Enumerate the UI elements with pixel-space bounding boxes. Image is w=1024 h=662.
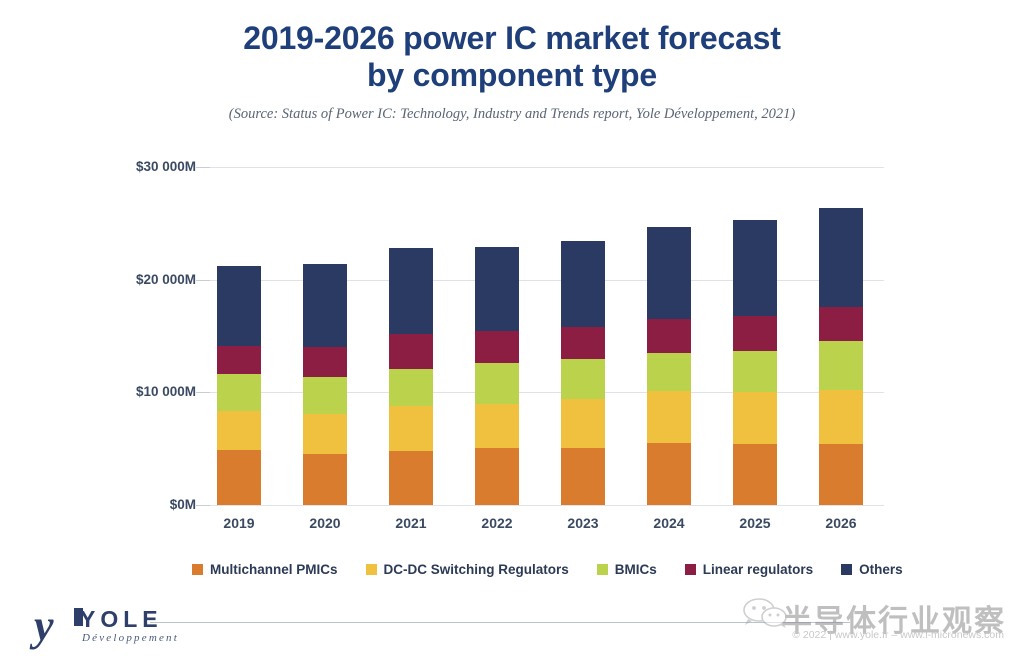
bar-segment[interactable] [475, 448, 519, 505]
watermark-credit: © 2022 | www.yole.fr – www.i-micronews.c… [792, 629, 1004, 641]
watermark: 半导体行业观察 © 2022 | www.yole.fr – www.i-mic… [738, 596, 1006, 652]
bar-segment[interactable] [561, 448, 605, 505]
yole-logo-subtitle: Développement [82, 632, 179, 644]
yole-logo-letter: y [34, 604, 54, 648]
bar-segment[interactable] [733, 444, 777, 505]
bar-segment[interactable] [819, 307, 863, 341]
bar-segment[interactable] [303, 414, 347, 455]
y-axis-tick-label: $10 000M [100, 384, 196, 399]
yole-logo: y YOLE Développement [34, 598, 204, 650]
bar-segment[interactable] [475, 404, 519, 448]
legend-swatch [841, 564, 852, 575]
x-axis-label: 2023 [548, 515, 618, 531]
bar-segment[interactable] [561, 359, 605, 400]
y-axis-tick: $0M [88, 497, 196, 511]
bar-segment[interactable] [389, 248, 433, 334]
legend-item[interactable]: Linear regulators [685, 562, 813, 577]
chart-page: 2019-2026 power IC market forecast by co… [0, 0, 1024, 662]
bar-segment[interactable] [819, 390, 863, 444]
legend-label: Others [859, 562, 903, 577]
bar-segment[interactable] [475, 331, 519, 363]
legend-swatch [192, 564, 203, 575]
bar-segment[interactable] [303, 347, 347, 376]
bar-segment[interactable] [647, 227, 691, 319]
legend-label: BMICs [615, 562, 657, 577]
bar-segment[interactable] [561, 327, 605, 359]
legend-item[interactable]: Multichannel PMICs [192, 562, 338, 577]
bar-segment[interactable] [217, 374, 261, 411]
x-axis-label: 2021 [376, 515, 446, 531]
bar-segment[interactable] [647, 443, 691, 505]
y-axis-tick-label: $20 000M [100, 272, 196, 287]
bar-segment[interactable] [217, 411, 261, 449]
legend-item[interactable]: Others [841, 562, 903, 577]
bar-segment[interactable] [217, 266, 261, 346]
bar-segment[interactable] [733, 351, 777, 393]
bar-segment[interactable] [389, 369, 433, 406]
bar-segment[interactable] [561, 399, 605, 447]
bar-segment[interactable] [389, 334, 433, 369]
legend-swatch [685, 564, 696, 575]
bar-segment[interactable] [819, 444, 863, 505]
legend-label: Multichannel PMICs [210, 562, 338, 577]
bar-segment[interactable] [819, 341, 863, 391]
bar-segment[interactable] [389, 451, 433, 505]
bar-segment[interactable] [303, 454, 347, 505]
y-axis-tick: $10 000M [88, 384, 196, 398]
x-axis-label: 2022 [462, 515, 532, 531]
bar-segment[interactable] [217, 450, 261, 505]
bar-segment[interactable] [819, 208, 863, 307]
x-axis-label: 2025 [720, 515, 790, 531]
legend-item[interactable]: BMICs [597, 562, 657, 577]
legend-label: Linear regulators [703, 562, 813, 577]
bar-segment[interactable] [733, 220, 777, 316]
chart-legend: Multichannel PMICsDC-DC Switching Regula… [192, 562, 912, 577]
bar-segment[interactable] [389, 406, 433, 451]
x-axis-label: 2024 [634, 515, 704, 531]
legend-swatch [597, 564, 608, 575]
bar-segment[interactable] [217, 346, 261, 374]
y-axis-tick-label: $30 000M [100, 159, 196, 174]
bar-segment[interactable] [303, 377, 347, 414]
yole-logo-name: YOLE [80, 606, 163, 633]
y-axis-tick: $20 000M [88, 272, 196, 286]
legend-swatch [366, 564, 377, 575]
bar-segment[interactable] [733, 316, 777, 351]
x-axis-label: 2019 [204, 515, 274, 531]
bar-segment[interactable] [647, 353, 691, 391]
y-axis-tick-label: $0M [100, 497, 196, 512]
bar-segment[interactable] [475, 363, 519, 404]
y-axis-tick: $30 000M [88, 159, 196, 173]
legend-item[interactable]: DC-DC Switching Regulators [366, 562, 569, 577]
x-axis-label: 2020 [290, 515, 360, 531]
bar-segment[interactable] [475, 247, 519, 332]
bar-segment[interactable] [647, 319, 691, 353]
bar-segment[interactable] [303, 264, 347, 347]
bar-segment[interactable] [647, 391, 691, 443]
legend-label: DC-DC Switching Regulators [384, 562, 569, 577]
bar-segment[interactable] [561, 241, 605, 327]
bar-segment[interactable] [733, 392, 777, 444]
x-axis-label: 2026 [806, 515, 876, 531]
